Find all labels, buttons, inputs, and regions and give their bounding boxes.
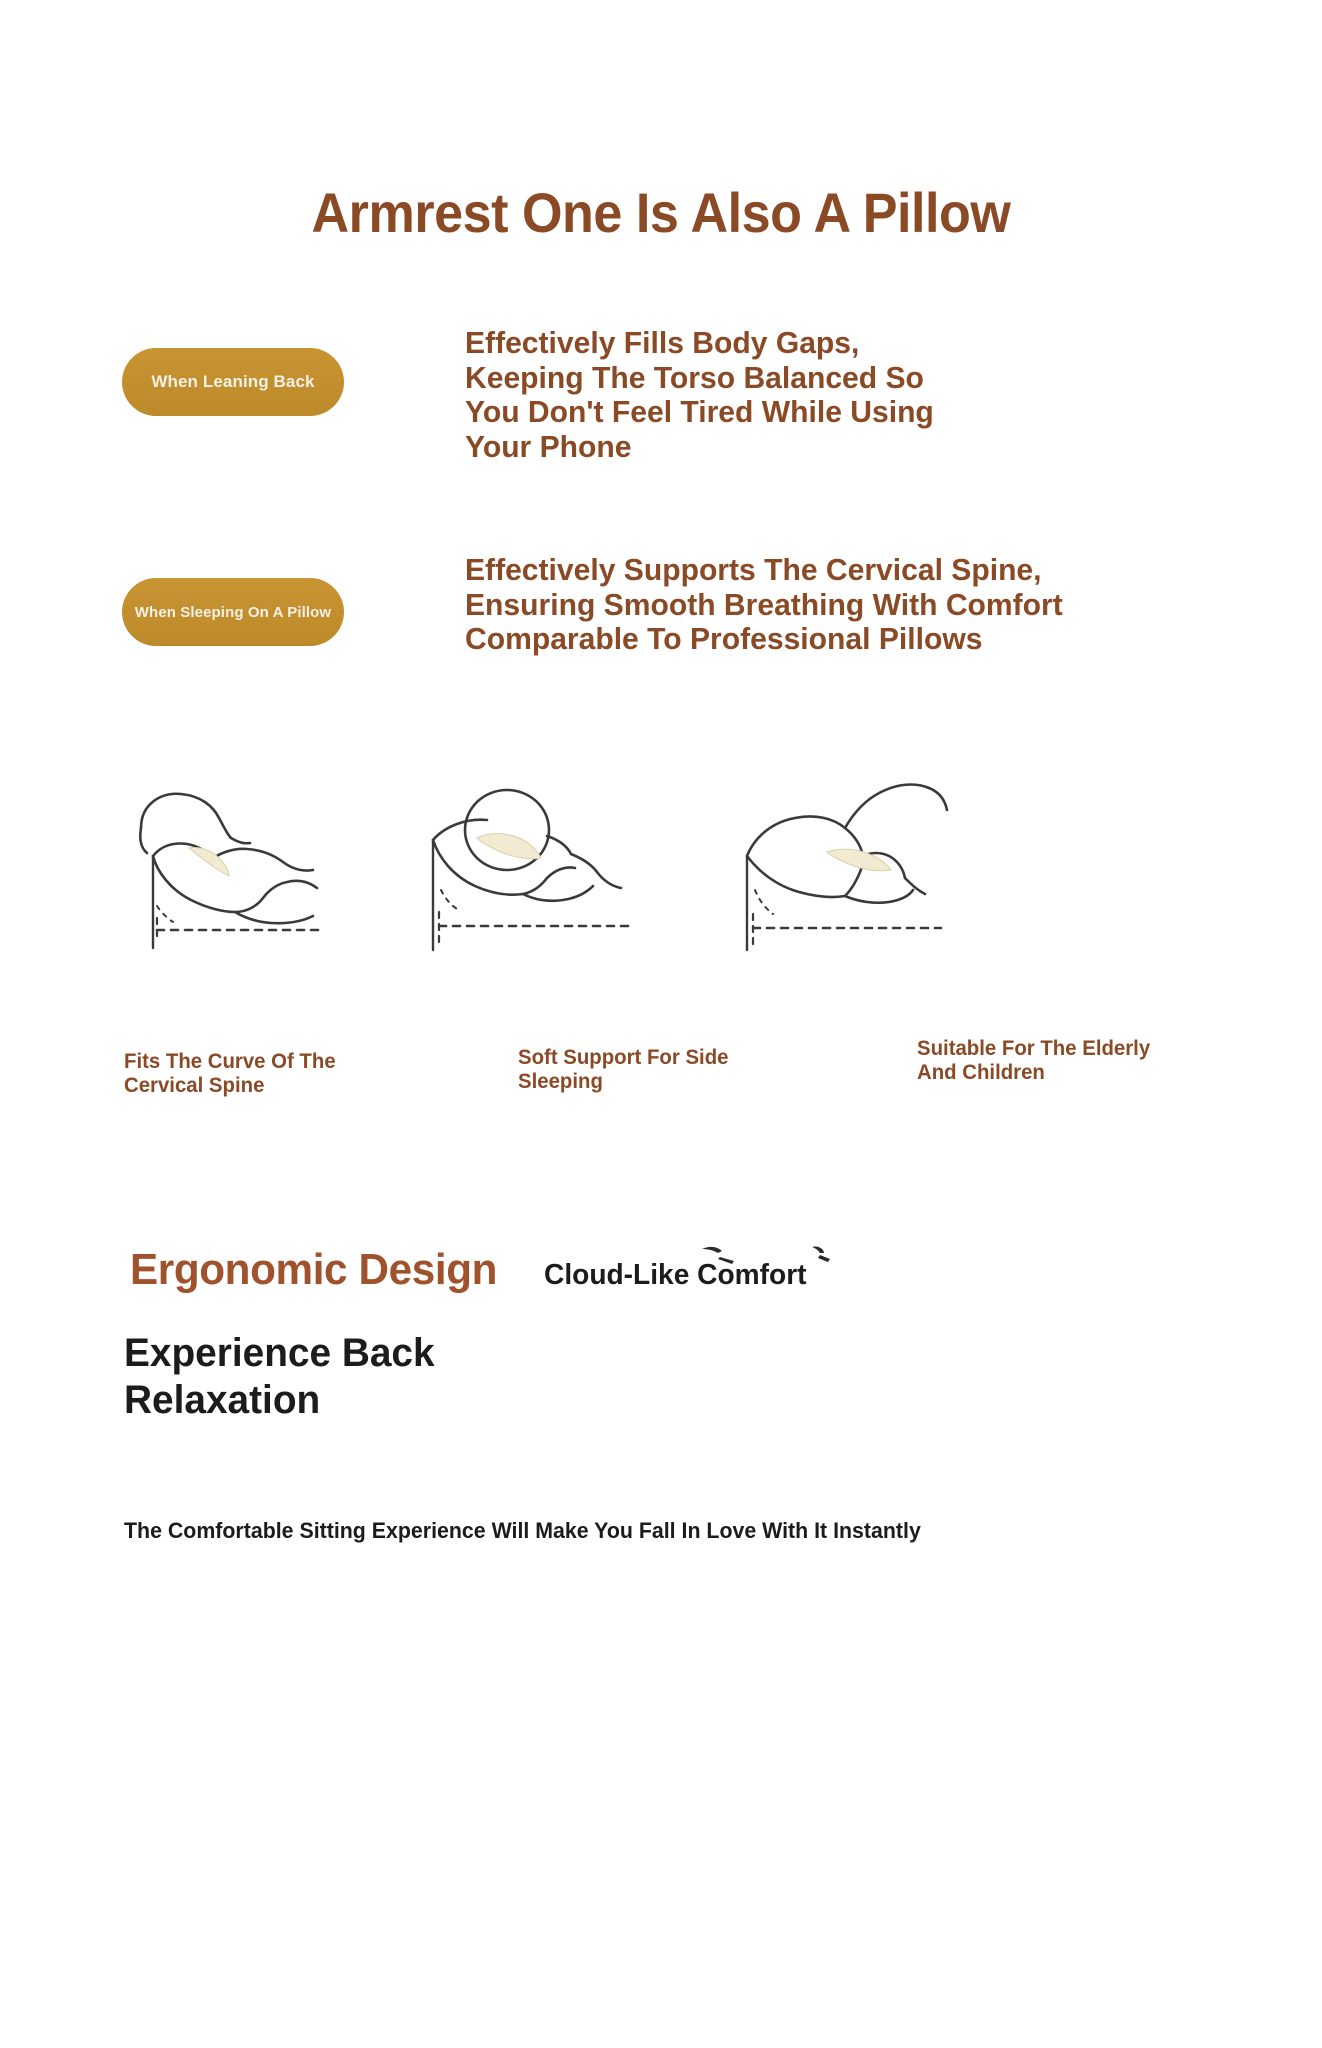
head-on-pillow-elderly-children-icon <box>715 760 967 975</box>
illustration-caption-side-sleeping: Soft Support For Side Sleeping <box>518 1046 790 1093</box>
ergonomic-design-title: Ergonomic Design <box>130 1248 497 1292</box>
comfort-footer-note: The Comfortable Sitting Experience Will … <box>124 1518 921 1544</box>
head-on-pillow-side-sleeping-icon <box>405 760 657 975</box>
feature-description-leaning-back: Effectively Fills Body Gaps, Keeping The… <box>465 326 1086 465</box>
illustration-caption-cervical-curve: Fits The Curve Of The Cervical Spine <box>124 1050 396 1097</box>
illustration-panel-group <box>95 760 1235 975</box>
experience-back-relaxation-heading: Experience Back Relaxation <box>124 1330 667 1424</box>
illustration-caption-elderly-children: Suitable For The Elderly And Children <box>917 1037 1208 1084</box>
head-on-pillow-back-sleeping-icon <box>95 760 347 975</box>
badge-when-leaning-back[interactable]: When Leaning Back <box>122 348 344 416</box>
badge-when-sleeping-on-a-pillow[interactable]: When Sleeping On A Pillow <box>122 578 344 646</box>
product-infographic-page: Armrest One Is Also A Pillow When Leanin… <box>0 0 1322 2048</box>
feature-description-sleeping-on-pillow: Effectively Supports The Cervical Spine,… <box>465 553 1251 657</box>
page-title: Armrest One Is Also A Pillow <box>46 185 1275 241</box>
feature-row-sleeping-on-pillow: When Sleeping On A Pillow Effectively Su… <box>122 578 1275 657</box>
feature-row-leaning-back: When Leaning Back Effectively Fills Body… <box>122 348 1105 465</box>
decorative-sparkle-marks-icon <box>700 1243 870 1269</box>
